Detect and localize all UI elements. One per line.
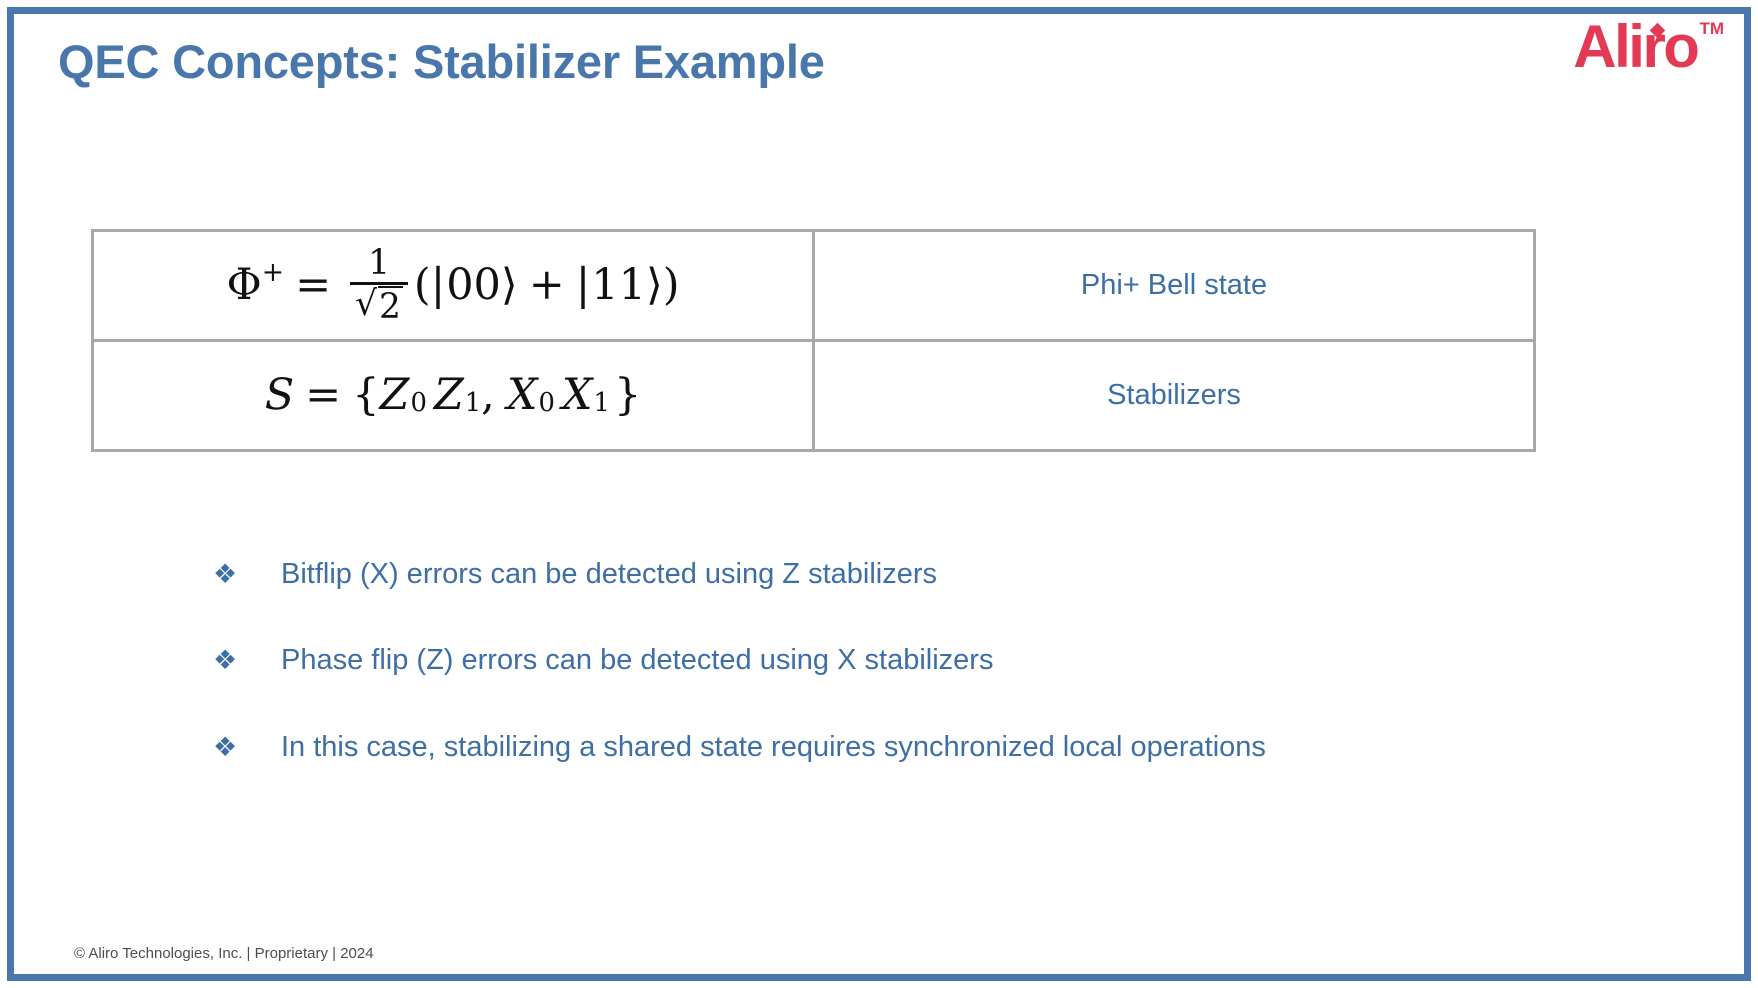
aliro-wordmark-text: Aliro: [1573, 13, 1697, 80]
paren-close: ): [663, 264, 680, 307]
stabilizers-formula-cell: S = { Z0 Z1 , X0 X1 }: [93, 341, 814, 451]
stabilizers-label-cell: Stabilizers: [814, 341, 1535, 451]
diamond-bullet-icon: ❖: [213, 644, 281, 678]
table-row: S = { Z0 Z1 , X0 X1 } Stabilizers: [93, 341, 1535, 451]
list-item: ❖ In this case, stabilizing a shared sta…: [213, 729, 1613, 765]
term3-letter: X: [507, 374, 538, 417]
slide-border-frame: [7, 7, 1751, 981]
trademark-mark: TM: [1699, 20, 1724, 37]
ket-angle-a: ⟩: [501, 264, 518, 307]
bullet-text: Phase flip (Z) errors can be detected us…: [281, 642, 993, 678]
one-over-root-two-fraction: 1 √2: [350, 246, 408, 325]
bullet-text: In this case, stabilizing a shared state…: [281, 729, 1266, 765]
s-symbol: S: [265, 374, 294, 417]
fraction-numerator: 1: [363, 246, 395, 282]
fraction-denominator: √2: [350, 285, 408, 325]
footer-copyright: © Aliro Technologies, Inc. | Proprietary…: [74, 945, 374, 962]
plus-sign: +: [529, 264, 565, 307]
page-title: QEC Concepts: Stabilizer Example: [58, 34, 825, 89]
bell-state-label-cell: Phi+ Bell state: [814, 231, 1535, 341]
square-root-icon: √2: [355, 286, 403, 325]
brace-close: }: [614, 374, 641, 417]
ket-angle-b: ⟩: [646, 264, 663, 307]
diamond-bullet-icon: ❖: [213, 558, 281, 592]
radicand: 2: [378, 286, 403, 325]
ket-bar-left-a: |: [431, 264, 446, 307]
paren-open: (: [414, 264, 431, 307]
bullet-text: Bitflip (X) errors can be detected using…: [281, 556, 937, 592]
table-row: Φ+ = 1 √2 (|00⟩ +: [93, 231, 1535, 341]
brace-open: {: [352, 374, 379, 417]
equals-sign: =: [305, 374, 341, 417]
slide: QEC Concepts: Stabilizer Example Aliro T…: [0, 0, 1758, 988]
equals-sign: =: [295, 264, 331, 307]
stabilizers-formula: S = { Z0 Z1 , X0 X1 }: [265, 374, 642, 417]
diamond-bullet-icon: ❖: [213, 731, 281, 765]
list-item: ❖ Bitflip (X) errors can be detected usi…: [213, 556, 1613, 592]
ket-a-value: 00: [446, 264, 501, 307]
term2-letter: Z: [434, 374, 464, 417]
bullet-list: ❖ Bitflip (X) errors can be detected usi…: [213, 556, 1613, 815]
phi-symbol: Φ: [226, 264, 261, 307]
term4-letter: X: [562, 374, 593, 417]
bell-state-formula-cell: Φ+ = 1 √2 (|00⟩ +: [93, 231, 814, 341]
term1-letter: Z: [380, 374, 410, 417]
list-item: ❖ Phase flip (Z) errors can be detected …: [213, 642, 1613, 678]
ket-b-value: 11: [591, 264, 646, 307]
ket-bar-left-b: |: [576, 264, 591, 307]
aliro-logo: Aliro TM: [1573, 16, 1724, 78]
aliro-wordmark: Aliro: [1573, 16, 1697, 78]
comma-separator: ,: [481, 374, 495, 417]
bell-state-formula: Φ+ = 1 √2 (|00⟩ +: [226, 246, 679, 325]
radical-sign: √: [355, 286, 377, 325]
concepts-table: Φ+ = 1 √2 (|00⟩ +: [91, 229, 1536, 452]
